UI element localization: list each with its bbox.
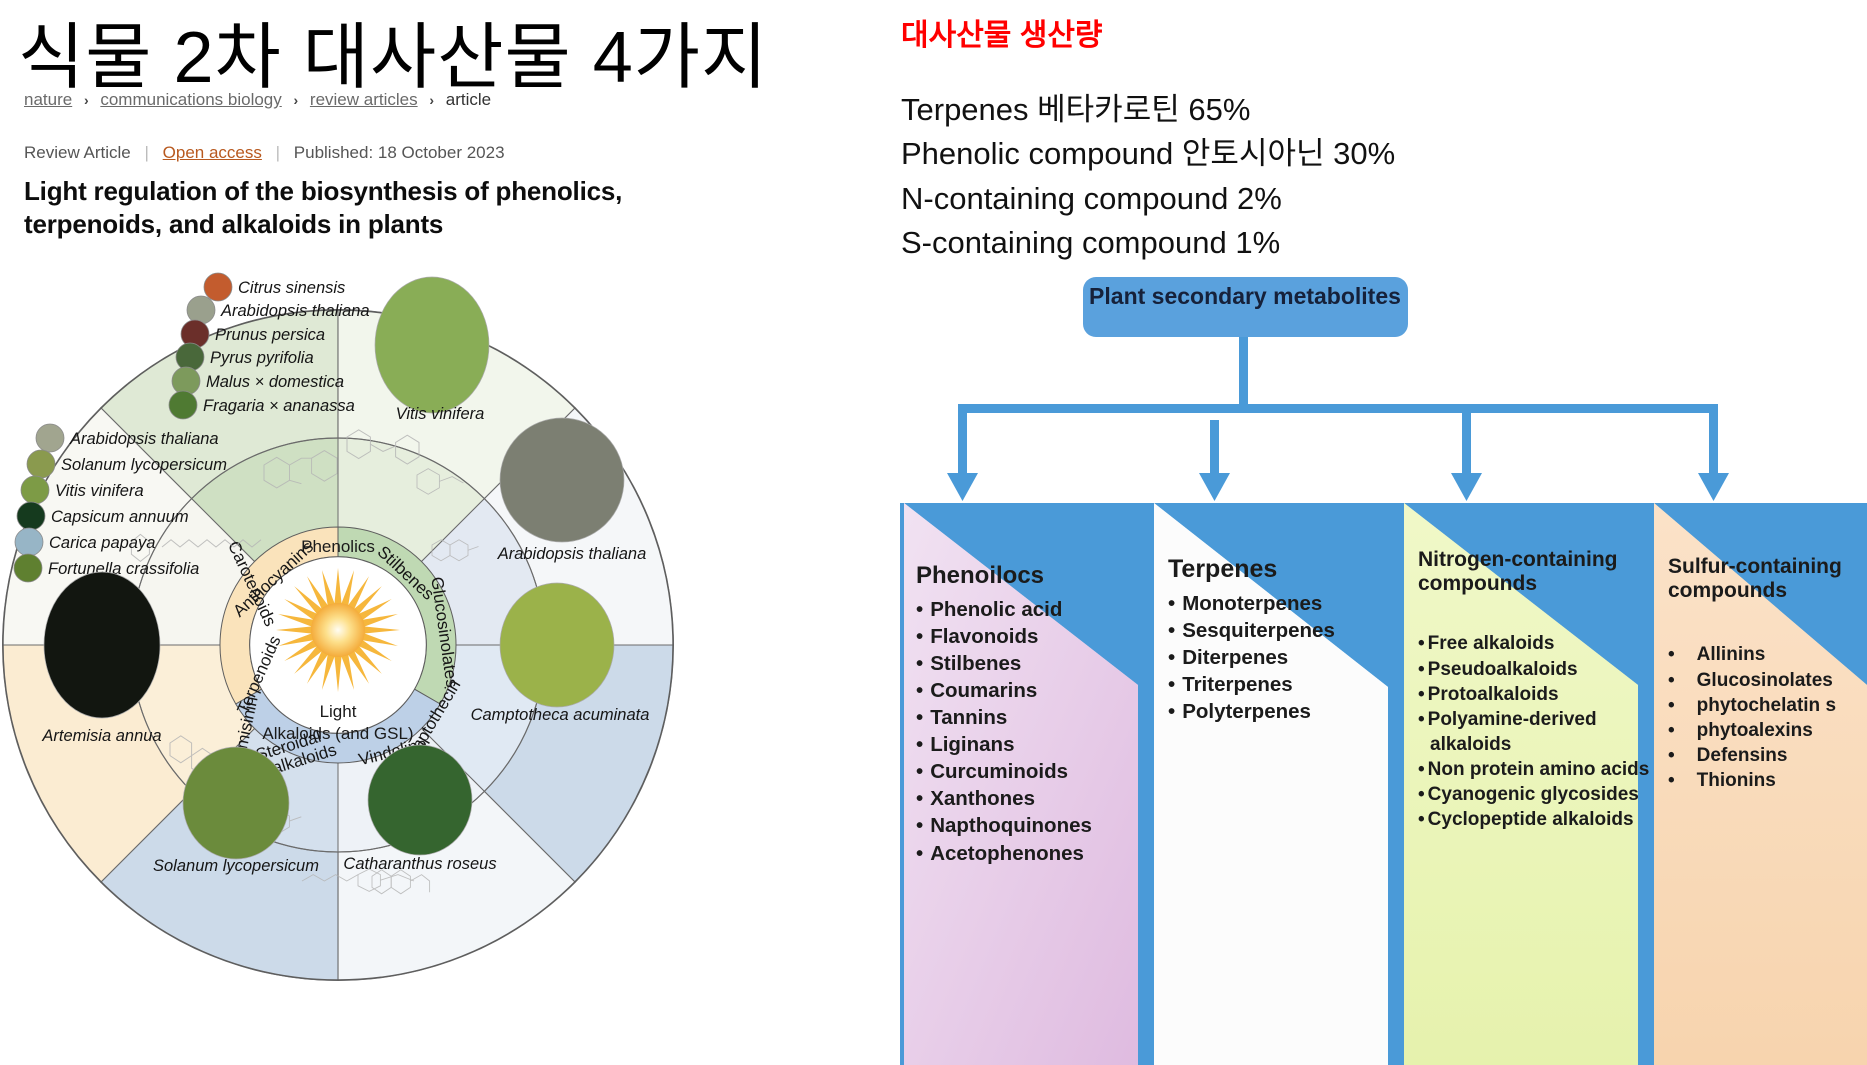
caption-solanum-lycopersicum: Solanum lycopersicum [153, 857, 319, 875]
list-item: Tannins [916, 704, 1146, 731]
caption-artemisia-annua: Artemisia annua [41, 727, 161, 745]
breadcrumb: nature › communications biology › review… [24, 90, 491, 110]
list-item: Cyclopeptide alkaloids [1418, 807, 1646, 832]
species-label: Malus × domestica [206, 373, 344, 391]
list-item: Polyamine-derived [1418, 707, 1646, 732]
list-item: Glucosinolates [1668, 668, 1867, 693]
column-sulfur: Sulfur-containing compounds Allinins Glu… [1668, 555, 1867, 793]
column-nitrogen: Nitrogen-containing compounds Free alkal… [1418, 548, 1646, 832]
yield-item-phenolic: Phenolic compound 안토시아닌 30% [901, 132, 1395, 176]
breadcrumb-separator-icon: › [84, 92, 89, 108]
metabolite-yield-list: Terpenes 베타카로틴 65% Phenolic compound 안토시… [901, 88, 1395, 265]
species-label: Fragaria × ananassa [203, 397, 355, 415]
list-item-cont: alkaloids [1418, 732, 1646, 757]
root-box-label: Plant secondary metabolites [1085, 283, 1405, 310]
list-item: Protoalkaloids [1418, 682, 1646, 707]
published-date: Published: 18 October 2023 [294, 143, 505, 162]
list-item: Sesquiterpenes [1168, 617, 1398, 644]
column-title-nitrogen: Nitrogen-containing compounds [1418, 548, 1646, 595]
species-label: Pyrus pyrifolia [210, 349, 314, 367]
column-title-terpenes: Terpenes [1168, 555, 1398, 583]
list-item: Acetophenones [916, 840, 1146, 867]
column-list-nitrogen: Free alkaloids Pseudoalkaloids Protoalka… [1418, 631, 1646, 832]
breadcrumb-separator-icon: › [429, 92, 434, 108]
list-item: Free alkaloids [1418, 631, 1646, 656]
yield-item-terpenes: Terpenes 베타카로틴 65% [901, 88, 1395, 132]
connector-lines [947, 337, 1729, 501]
column-list-phenolics: Phenolic acid Flavonoids Stilbenes Couma… [916, 596, 1146, 866]
caption-vitis-vinifera: Vitis vinifera [396, 405, 485, 423]
breadcrumb-link-review-articles[interactable]: review articles [310, 90, 418, 109]
list-item: Thionins [1668, 768, 1867, 793]
list-item: Cyanogenic glycosides [1418, 782, 1646, 807]
column-list-terpenes: Monoterpenes Sesquiterpenes Diterpenes T… [1168, 590, 1398, 725]
species-label: Arabidopsis thaliana [69, 430, 219, 448]
species-label: Vitis vinifera [55, 482, 144, 500]
slide-title: 식물 2차 대사산물 4가지 [18, 0, 768, 103]
sun-icon [276, 568, 400, 692]
column-phenolics: Phenoilocs Phenolic acid Flavonoids Stil… [916, 562, 1146, 867]
article-type-label: Review Article [24, 143, 131, 162]
plant-secondary-metabolites-diagram: Plant secondary metabolites Phenoilocs P… [900, 255, 1867, 1065]
list-item: Triterpenes [1168, 671, 1398, 698]
yield-item-nitrogen: N-containing compound 2% [901, 177, 1395, 221]
list-item: Flavonoids [916, 623, 1146, 650]
list-item: Non protein amino acids [1418, 757, 1646, 782]
list-item: Diterpenes [1168, 644, 1398, 671]
list-item: Liginans [916, 731, 1146, 758]
caption-catharanthus-roseus: Catharanthus roseus [343, 855, 496, 873]
light-regulation-wheel-figure: Light Phenolics Terpenoids Alkaloids (an… [2, 245, 674, 1065]
breadcrumb-separator-icon: › [294, 92, 299, 108]
list-item: Polyterpenes [1168, 698, 1398, 725]
list-item: Phenolic acid [916, 596, 1146, 623]
list-item: Allinins [1668, 642, 1867, 667]
species-label: Prunus persica [215, 326, 325, 344]
breadcrumb-link-communications-biology[interactable]: communications biology [100, 90, 281, 109]
list-item: phytochelatin s [1668, 693, 1867, 718]
right-column: 대사산물 생산량 Terpenes 베타카로틴 65% Phenolic com… [900, 0, 1867, 1065]
list-item: Pseudoalkaloids [1418, 657, 1646, 682]
slide-root: 식물 2차 대사산물 4가지 nature › communications b… [0, 0, 1867, 1065]
list-item: Monoterpenes [1168, 590, 1398, 617]
meta-divider: | [276, 143, 280, 162]
species-label: Capsicum annuum [51, 508, 189, 526]
caption-arabidopsis-thaliana: Arabidopsis thaliana [497, 545, 647, 563]
column-title-sulfur: Sulfur-containing compounds [1668, 555, 1867, 602]
breadcrumb-link-nature[interactable]: nature [24, 90, 72, 109]
list-item: Xanthones [916, 785, 1146, 812]
column-list-sulfur: Allinins Glucosinolates phytochelatin s … [1668, 642, 1867, 792]
column-terpenes: Terpenes Monoterpenes Sesquiterpenes Dit… [1168, 555, 1398, 725]
column-title-phenolics: Phenoilocs [916, 562, 1146, 589]
open-access-link[interactable]: Open access [163, 143, 262, 162]
article-title: Light regulation of the biosynthesis of … [24, 175, 684, 242]
species-label: Arabidopsis thaliana [220, 302, 370, 320]
left-column: 식물 2차 대사산물 4가지 nature › communications b… [0, 0, 900, 1065]
list-item: phytoalexins [1668, 718, 1867, 743]
species-label: Solanum lycopersicum [61, 456, 227, 474]
article-meta: Review Article | Open access | Published… [24, 143, 505, 163]
wheel-svg: Light Phenolics Terpenoids Alkaloids (an… [2, 245, 674, 1065]
list-item: Curcuminoids [916, 758, 1146, 785]
list-item: Napthoquinones [916, 812, 1146, 839]
list-item: Defensins [1668, 743, 1867, 768]
wheel-center-label: Light [320, 702, 357, 721]
caption-camptotheca-acuminata: Camptotheca acuminata [471, 706, 650, 724]
species-label: Citrus sinensis [238, 279, 345, 297]
meta-divider: | [145, 143, 149, 162]
list-item: Coumarins [916, 677, 1146, 704]
list-item: Stilbenes [916, 650, 1146, 677]
metabolite-yield-heading: 대사산물 생산량 [901, 10, 1103, 54]
species-label: Carica papaya [49, 534, 155, 552]
breadcrumb-current-article: article [446, 90, 491, 109]
species-label: Fortunella crassifolia [48, 560, 199, 578]
